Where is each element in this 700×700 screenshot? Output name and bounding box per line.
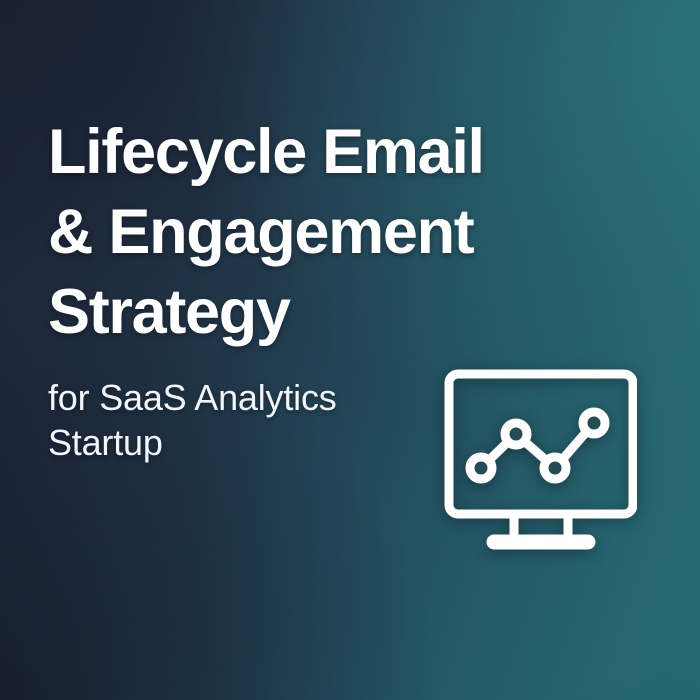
chart-point-1 — [470, 457, 492, 479]
poster-canvas: Lifecycle Email & Engagement Strategy fo… — [0, 0, 700, 700]
chart-point-3 — [544, 457, 566, 479]
chart-line — [481, 423, 594, 468]
page-subtitle: for SaaS Analytics Startup — [48, 375, 478, 465]
chart-point-4 — [583, 412, 605, 434]
chart-point-2 — [505, 423, 527, 445]
page-title: Lifecycle Email & Engagement Strategy — [48, 112, 660, 352]
monitor-screen-frame — [449, 374, 633, 514]
analytics-monitor-icon — [437, 356, 637, 556]
